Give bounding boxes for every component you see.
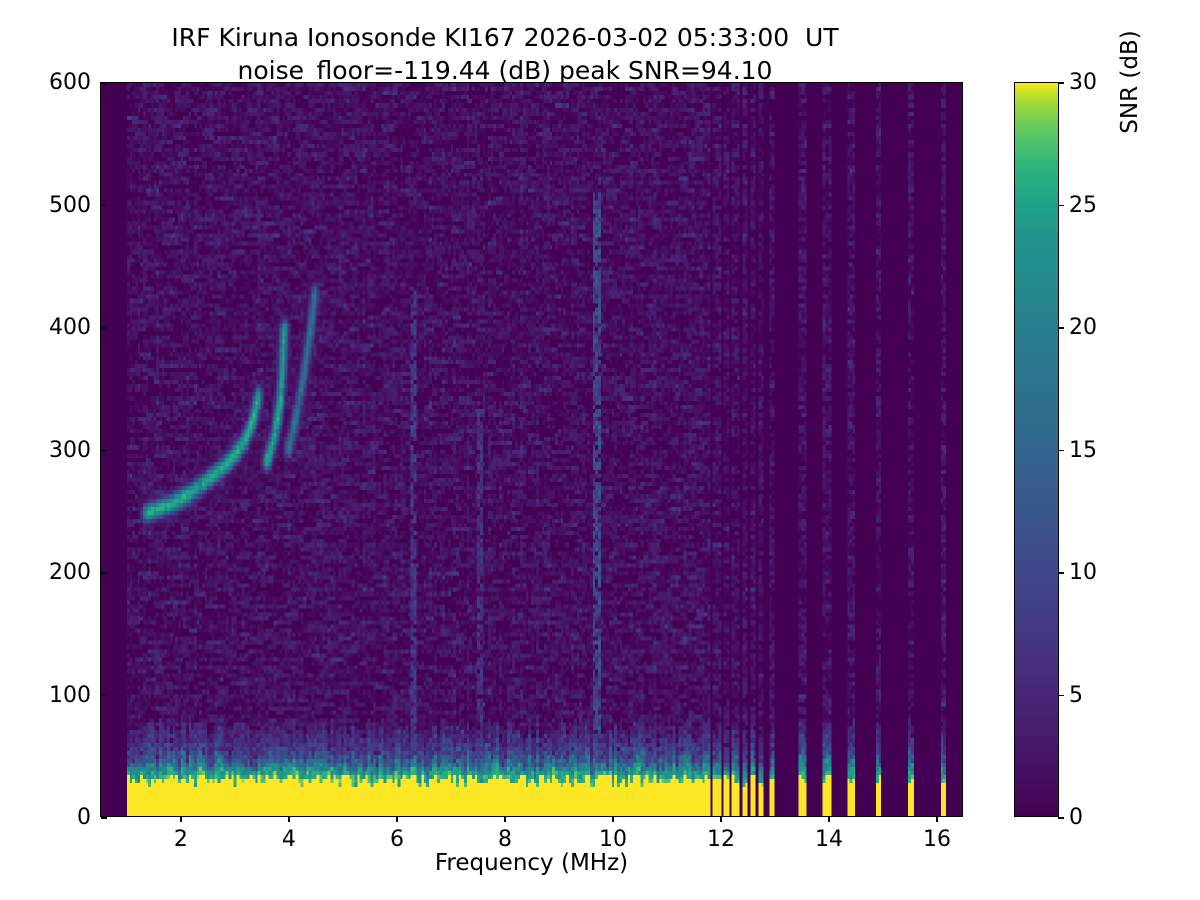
- colorbar-tick-mark: [1058, 695, 1064, 697]
- colorbar-tick-mark: [1058, 817, 1064, 819]
- y-tick-label: 300: [49, 436, 91, 466]
- y-tick-mark: [101, 327, 107, 329]
- colorbar-tick-mark: [1058, 82, 1064, 84]
- colorbar-tick-mark: [1058, 572, 1064, 574]
- y-tick-mark: [101, 450, 107, 452]
- y-tick-mark: [101, 82, 107, 84]
- colorbar-tick-label: 0: [1069, 803, 1083, 833]
- x-tick-mark: [936, 816, 938, 822]
- x-tick-mark: [288, 816, 290, 822]
- y-tick-mark: [101, 695, 107, 697]
- colorbar-tick-mark: [1058, 327, 1064, 329]
- ionogram-heatmap[interactable]: [101, 83, 962, 816]
- figure-title: IRF Kiruna Ionosonde KI167 2026-03-02 05…: [0, 22, 1010, 87]
- x-tick-mark: [180, 816, 182, 822]
- y-tick-label: 500: [49, 191, 91, 221]
- y-tick-label: 0: [77, 803, 91, 833]
- ionogram-figure: IRF Kiruna Ionosonde KI167 2026-03-02 05…: [0, 0, 1200, 900]
- y-tick-mark: [101, 205, 107, 207]
- y-tick-label: 100: [49, 681, 91, 711]
- x-axis-label: Frequency (MHz): [100, 850, 963, 876]
- colorbar-tick-label: 15: [1069, 436, 1097, 466]
- y-tick-mark: [101, 817, 107, 819]
- x-tick-mark: [396, 816, 398, 822]
- y-tick-mark: [101, 572, 107, 574]
- y-tick-label: 200: [49, 558, 91, 588]
- x-tick-mark: [720, 816, 722, 822]
- y-tick-label: 400: [49, 313, 91, 343]
- colorbar-tick-label: 5: [1069, 681, 1083, 711]
- colorbar-tick-label: 30: [1069, 68, 1097, 98]
- colorbar[interactable]: 051015202530: [1014, 82, 1059, 817]
- colorbar-tick-label: 25: [1069, 191, 1097, 221]
- colorbar-tick-mark: [1058, 205, 1064, 207]
- plot-area[interactable]: 0100200300400500600 246810121416: [100, 82, 963, 817]
- title-line-1: IRF Kiruna Ionosonde KI167 2026-03-02 05…: [0, 22, 1010, 55]
- colorbar-label: SNR (dB): [1117, 0, 1143, 450]
- colorbar-tick-label: 20: [1069, 313, 1097, 343]
- colorbar-tick-label: 10: [1069, 558, 1097, 588]
- x-tick-mark: [612, 816, 614, 822]
- x-tick-mark: [828, 816, 830, 822]
- y-tick-label: 600: [49, 68, 91, 98]
- colorbar-tick-mark: [1058, 450, 1064, 452]
- x-tick-mark: [504, 816, 506, 822]
